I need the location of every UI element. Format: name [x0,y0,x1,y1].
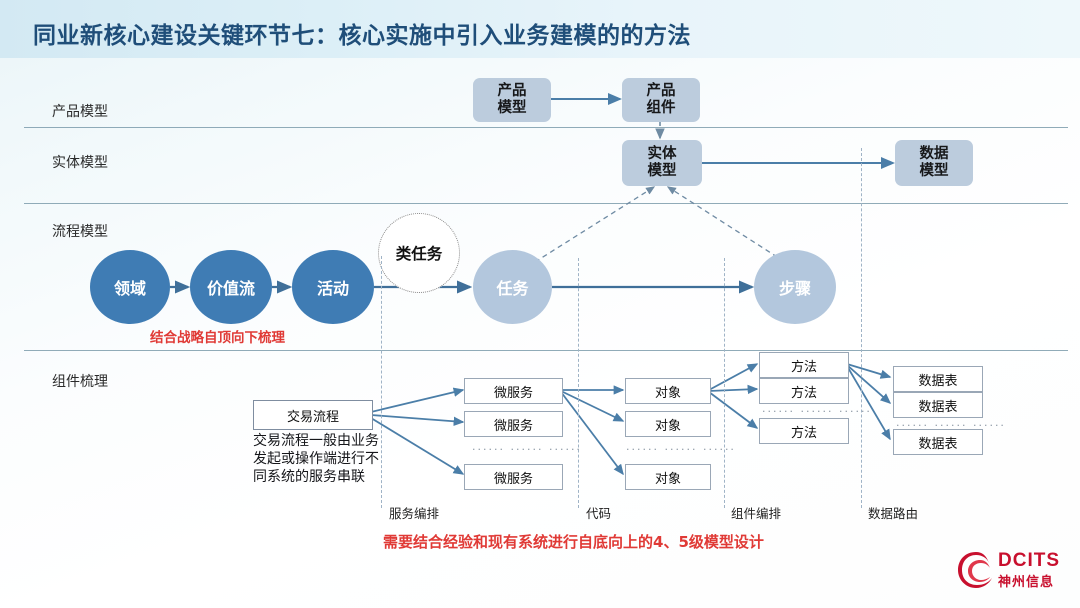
dcits-logo: DCITS 神州信息 [956,548,1072,596]
annotation-top-down: 结合战略自顶向下梳理 [150,326,285,346]
task-circle[interactable]: 任务 [473,250,552,324]
method-box-1[interactable]: 方法 [759,352,849,378]
caption-data-routing: 数据路由 [868,503,918,522]
logo-subtitle: 神州信息 [998,571,1054,590]
caption-component-orchestration: 组件编排 [731,503,781,522]
entity-model-box-line2: 模型 [648,163,677,180]
entity-model-box-line1: 实体 [648,146,677,163]
microservice-box-1[interactable]: 微服务 [464,378,563,404]
microservice-ellipsis: ······ ······ ······ [472,443,582,456]
product-model-box-line2: 模型 [498,100,527,117]
object-box-3[interactable]: 对象 [625,464,711,490]
data-model-box[interactable]: 数据 模型 [895,140,973,186]
object-ellipsis: ······ ······ ······ [626,443,736,456]
microservice-box-3[interactable]: 微服务 [464,464,563,490]
data-table-box-1[interactable]: 数据表 [893,366,983,392]
product-model-box-line1: 产品 [498,83,527,100]
column-divider-3 [724,258,725,508]
domain-circle[interactable]: 领域 [90,250,170,324]
method-box-3[interactable]: 方法 [759,418,849,444]
data-model-box-line2: 模型 [920,163,949,180]
trade-flow-note: 交易流程一般由业务发起或操作端进行不同系统的服务串联 [253,433,385,487]
caption-code: 代码 [586,503,611,522]
data-model-box-line1: 数据 [920,146,949,163]
data-table-box-3[interactable]: 数据表 [893,429,983,455]
product-component-box-line1: 产品 [647,83,676,100]
caption-service-orchestration: 服务编排 [389,503,439,522]
activity-circle[interactable]: 活动 [292,250,374,324]
logo-wordmark: DCITS [998,550,1060,572]
class-task-circle[interactable]: 类任务 [378,213,460,293]
column-divider-4 [861,148,862,508]
slide-root: 同业新核心建设关键环节七：核心实施中引入业务建模的的方法 产品模型 实体模型 流… [0,0,1080,608]
step-circle[interactable]: 步骤 [754,250,836,324]
product-component-box[interactable]: 产品 组件 [622,78,700,122]
dcits-swirl-icon [956,548,996,592]
entity-model-box[interactable]: 实体 模型 [622,140,702,186]
object-box-1[interactable]: 对象 [625,378,711,404]
object-box-2[interactable]: 对象 [625,411,711,437]
product-component-box-line2: 组件 [647,100,676,117]
product-model-box[interactable]: 产品 模型 [473,78,551,122]
column-divider-2 [578,258,579,508]
method-ellipsis: ······ ······ ······ [762,405,872,418]
data-table-box-2[interactable]: 数据表 [893,392,983,418]
value-stream-circle[interactable]: 价值流 [190,250,272,324]
trade-flow-box[interactable]: 交易流程 [253,400,373,430]
method-box-2[interactable]: 方法 [759,378,849,404]
microservice-box-2[interactable]: 微服务 [464,411,563,437]
annotation-bottom-up: 需要结合经验和现有系统进行自底向上的4、5级模型设计 [383,531,764,552]
